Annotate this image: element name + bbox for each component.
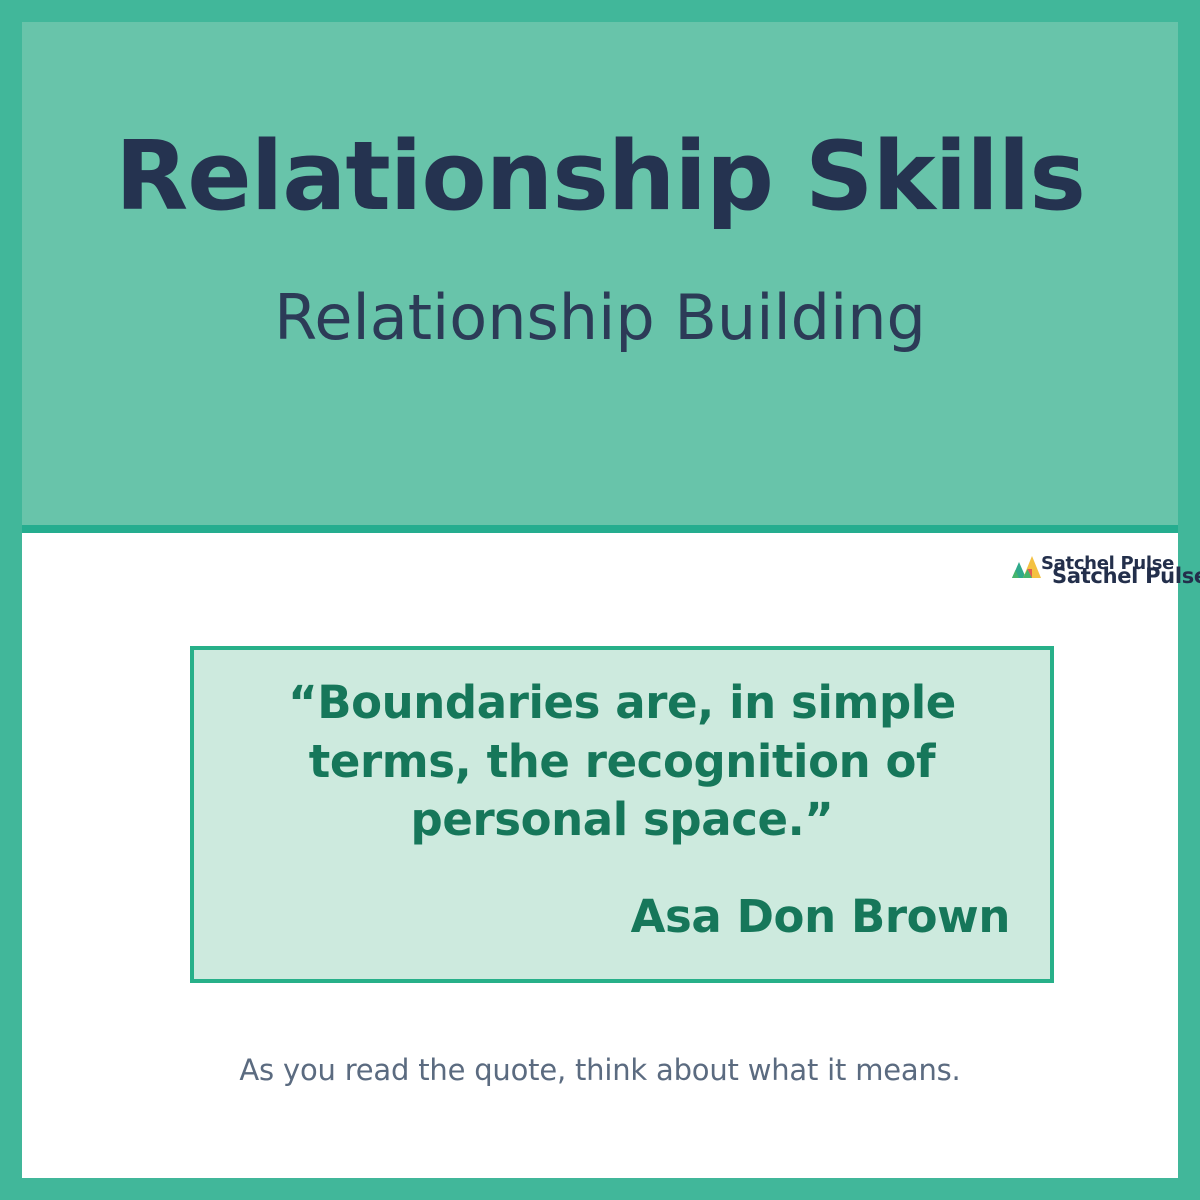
page-subtitle: Relationship Building: [274, 287, 926, 349]
header-panel: Relationship Skills Relationship Buildin…: [22, 22, 1178, 525]
page-title: Relationship Skills: [115, 130, 1085, 225]
quote-text: “Boundaries are, in simple terms, the re…: [220, 674, 1024, 850]
slide-canvas: Relationship Skills Relationship Buildin…: [0, 0, 1200, 1200]
satchel-pulse-logo: Satchel Pulse Satchel Pulse: [984, 547, 1164, 595]
mountains-icon: [1006, 550, 1046, 580]
header-divider: [22, 525, 1178, 533]
instruction-caption: As you read the quote, think about what …: [22, 1053, 1178, 1087]
logo-wordmark-front: Satchel Pulse: [1052, 564, 1200, 588]
quote-attribution: Asa Don Brown: [220, 890, 1024, 943]
body-panel: Satchel Pulse Satchel Pulse “Boundaries …: [22, 533, 1178, 1178]
quote-box: “Boundaries are, in simple terms, the re…: [190, 646, 1054, 983]
